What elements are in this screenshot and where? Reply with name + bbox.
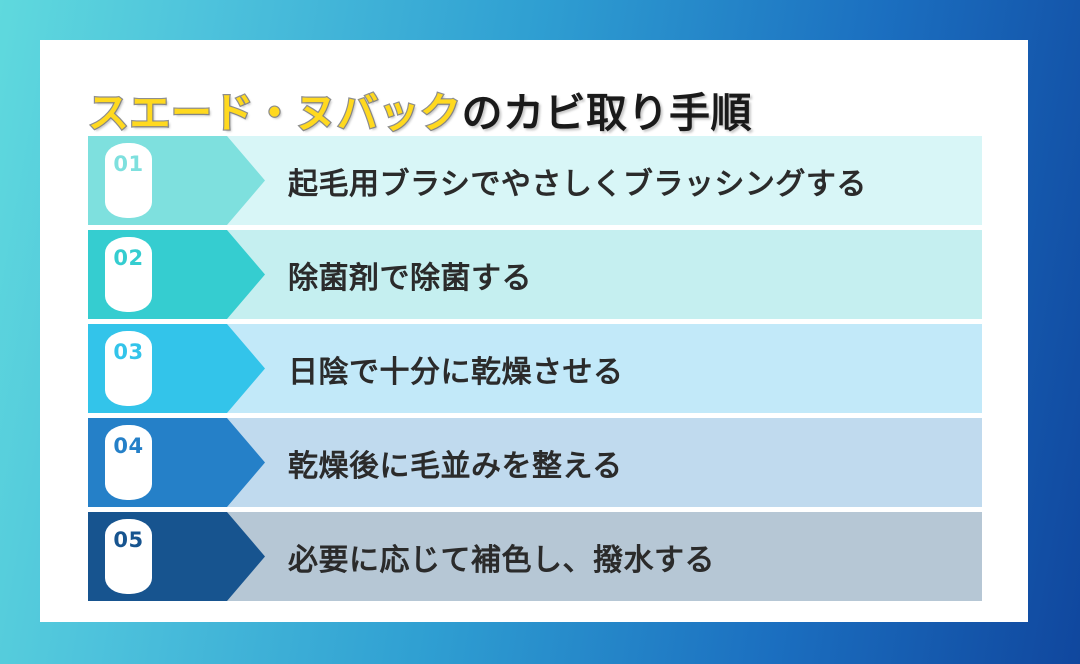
list-item: 04 乾燥後に毛並みを整える bbox=[88, 418, 982, 507]
step-number: 01 bbox=[105, 154, 152, 175]
step-number: 03 bbox=[105, 342, 152, 363]
step-number: 05 bbox=[105, 530, 152, 551]
step-number-badge: 02 bbox=[105, 237, 152, 312]
list-item: 05 必要に応じて補色し、撥水する bbox=[88, 512, 982, 601]
step-label: 乾燥後に毛並みを整える bbox=[288, 418, 623, 507]
content-card: スエード・ヌバックのカビ取り手順 01 起毛用ブラシでやさしくブラッシングする … bbox=[40, 40, 1028, 622]
step-number-badge: 01 bbox=[105, 143, 152, 218]
step-label: 必要に応じて補色し、撥水する bbox=[288, 512, 715, 601]
step-number: 04 bbox=[105, 436, 152, 457]
step-label: 日陰で十分に乾燥させる bbox=[288, 324, 624, 413]
list-item: 03 日陰で十分に乾燥させる bbox=[88, 324, 982, 413]
page-title: スエード・ヌバックのカビ取り手順 bbox=[88, 93, 752, 134]
list-item: 01 起毛用ブラシでやさしくブラッシングする bbox=[88, 136, 982, 225]
step-number: 02 bbox=[105, 248, 152, 269]
step-label: 除菌剤で除菌する bbox=[288, 230, 532, 319]
step-label: 起毛用ブラシでやさしくブラッシングする bbox=[288, 136, 867, 225]
list-item: 02 除菌剤で除菌する bbox=[88, 230, 982, 319]
title-plain: のカビ取り手順 bbox=[462, 89, 753, 137]
infographic-canvas: スエード・ヌバックのカビ取り手順 01 起毛用ブラシでやさしくブラッシングする … bbox=[0, 0, 1080, 664]
step-number-badge: 05 bbox=[105, 519, 152, 594]
step-number-badge: 04 bbox=[105, 425, 152, 500]
steps-list: 01 起毛用ブラシでやさしくブラッシングする 02 除菌剤で除菌する bbox=[88, 136, 982, 601]
title-highlight: スエード・ヌバック bbox=[88, 89, 462, 137]
step-number-badge: 03 bbox=[105, 331, 152, 406]
